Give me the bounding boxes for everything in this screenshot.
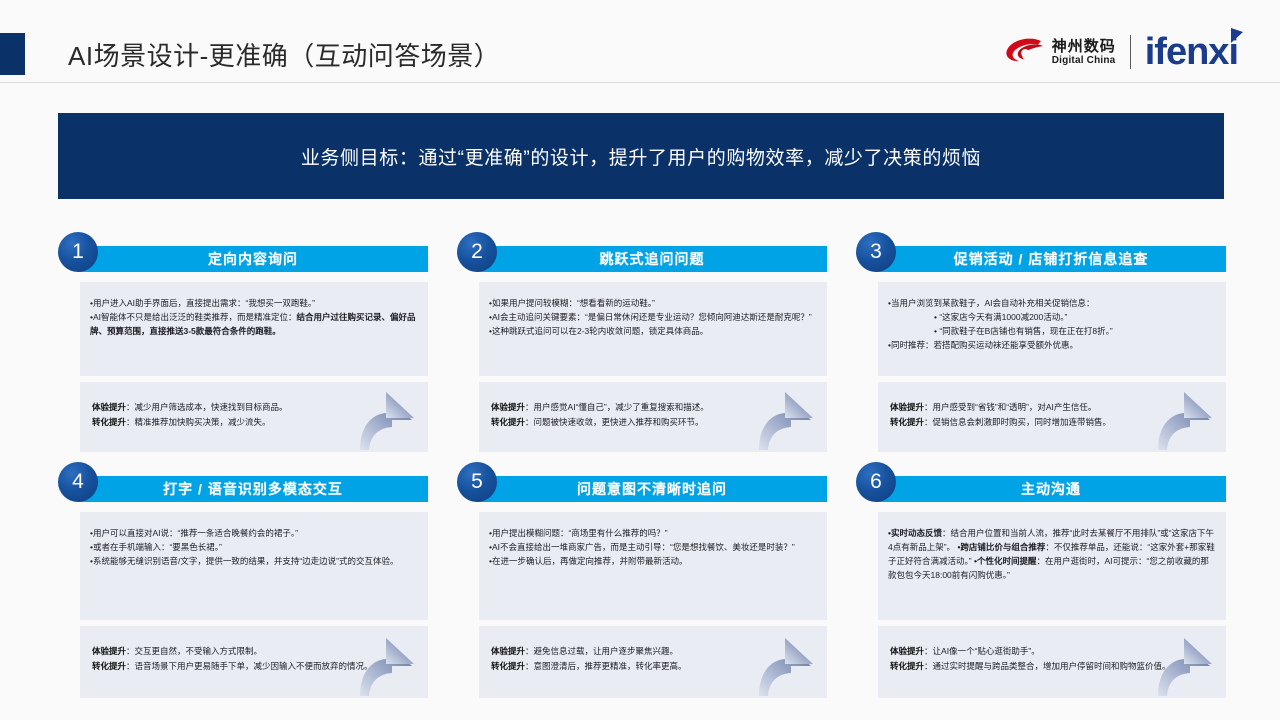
card-body-panel: •如果用户提问较模糊：“想看看新的运动鞋。” •AI会主动追问关键要素：“是偏日… [479, 282, 827, 376]
card-gain-panel: 体验提升：交互更自然，不受输入方式限制。 转化提升：语音场景下用户更易随手下单，… [80, 626, 428, 698]
card-number-badge: 2 [457, 232, 497, 272]
gain-label: 转化提升 [890, 417, 924, 427]
card-gain-panel: 体验提升：用户感觉AI“懂自己”，减少了重复搜索和描述。 转化提升：问题被快速收… [479, 382, 827, 452]
gain-row: 转化提升：促销信息会刺激即时购买，同时增加连带销售。 [890, 415, 1216, 430]
body-line: •当用户浏览到某款鞋子，AI会自动补充相关促销信息： [888, 296, 1216, 310]
card-body-text: •如果用户提问较模糊：“想看看新的运动鞋。” •AI会主动追问关键要素：“是偏日… [479, 282, 827, 338]
body-line: •同时推荐：若搭配购买运动袜还能享受额外优惠。 [888, 338, 1216, 352]
gain-label: 体验提升 [92, 402, 126, 412]
gain-row: 转化提升：意图澄清后，推荐更精准，转化率更高。 [491, 659, 817, 674]
card-body-panel: •实时动态反馈：结合用户位置和当前人流，推荐“此时去某餐厅不用排队”或“这家店下… [878, 512, 1226, 620]
gain-label: 转化提升 [491, 661, 525, 671]
card-body-panel: •当用户浏览到某款鞋子，AI会自动补充相关促销信息： • “这家店今天有满100… [878, 282, 1226, 376]
card-gain-text: 体验提升：用户感受到“省钱”和“透明”，对AI产生信任。 转化提升：促销信息会刺… [878, 382, 1226, 430]
body-line: •或者在手机端输入：“要黑色长裙。” [90, 540, 418, 554]
card-title-bar: 问题意图不清晰时追问 [477, 476, 827, 502]
body-line: •在进一步确认后，再做定向推荐，并附带最新活动。 [489, 554, 817, 568]
card-number-badge: 1 [58, 232, 98, 272]
body-line-bold: •个性化时间提醒 [974, 556, 1036, 566]
body-line: •用户提出模糊问题：“商场里有什么推荐的吗？” [489, 526, 817, 540]
gain-value: 用户感觉AI“懂自己”，减少了重复搜索和描述。 [534, 402, 709, 412]
scenario-card-grid: 1 定向内容询问 •用户进入AI助手界面后，直接提出需求：“我想买一双跑鞋。” … [0, 0, 1280, 720]
card-title: 促销活动 / 店铺打折信息追查 [954, 249, 1149, 269]
card-title-bar: 定向内容询问 [78, 246, 428, 272]
card-title-bar: 跳跃式追问问题 [477, 246, 827, 272]
card-gain-text: 体验提升：用户感觉AI“懂自己”，减少了重复搜索和描述。 转化提升：问题被快速收… [479, 382, 827, 430]
gain-row: 转化提升：精准推荐加快购买决策，减少流失。 [92, 415, 418, 430]
gain-label: 转化提升 [890, 661, 924, 671]
gain-row: 转化提升：问题被快速收敛，更快进入推荐和购买环节。 [491, 415, 817, 430]
gain-row: 体验提升：交互更自然，不受输入方式限制。 [92, 644, 418, 659]
gain-value: 减少用户筛选成本，快速找到目标商品。 [135, 402, 288, 412]
gain-row: 转化提升：语音场景下用户更易随手下单，减少因输入不便而放弃的情况。 [92, 659, 418, 674]
gain-label: 体验提升 [491, 402, 525, 412]
card-number-badge: 4 [58, 462, 98, 502]
card-number-badge: 6 [856, 462, 896, 502]
card-title: 主动沟通 [1021, 479, 1081, 499]
body-line-bold: •实时动态反馈 [888, 528, 942, 538]
card-body-text: •用户提出模糊问题：“商场里有什么推荐的吗？” •AI不会直接给出一堆商家广告，… [479, 512, 827, 568]
card-body-text: •用户进入AI助手界面后，直接提出需求：“我想买一双跑鞋。” •AI智能体不只是… [80, 282, 428, 338]
gain-label: 体验提升 [92, 646, 126, 656]
card-gain-text: 体验提升：交互更自然，不受输入方式限制。 转化提升：语音场景下用户更易随手下单，… [80, 626, 428, 674]
body-line: •用户可以直接对AI说：“推荐一条适合晚餐约会的裙子。” [90, 526, 418, 540]
gain-row: 体验提升：减少用户筛选成本，快速找到目标商品。 [92, 400, 418, 415]
slide-root: AI场景设计-更准确（互动问答场景） 神州数码 Digital China if… [0, 0, 1280, 720]
card-body-panel: •用户可以直接对AI说：“推荐一条适合晚餐约会的裙子。” •或者在手机端输入：“… [80, 512, 428, 620]
card-title: 定向内容询问 [208, 249, 298, 269]
body-line: • “这家店今天有满1000减200活动。” [888, 310, 1216, 324]
card-gain-panel: 体验提升：让AI像一个“贴心逛街助手”。 转化提升：通过实时提醒与跨品类整合，增… [878, 626, 1226, 698]
card-title: 打字 / 语音识别多模态交互 [163, 479, 343, 499]
body-line: •AI智能体不只是给出泛泛的鞋类推荐，而是精准定位： [90, 312, 297, 322]
gain-row: 体验提升：用户感觉AI“懂自己”，减少了重复搜索和描述。 [491, 400, 817, 415]
gain-value: 避免信息过载，让用户逐步聚焦兴趣。 [534, 646, 679, 656]
card-title-bar: 打字 / 语音识别多模态交互 [78, 476, 428, 502]
card-gain-text: 体验提升：减少用户筛选成本，快速找到目标商品。 转化提升：精准推荐加快购买决策，… [80, 382, 428, 430]
card-body-text: •用户可以直接对AI说：“推荐一条适合晚餐约会的裙子。” •或者在手机端输入：“… [80, 512, 428, 568]
gain-value: 意图澄清后，推荐更精准，转化率更高。 [534, 661, 687, 671]
card-title: 跳跃式追问问题 [600, 249, 705, 269]
gain-row: 体验提升：让AI像一个“贴心逛街助手”。 [890, 644, 1216, 659]
body-line: • “同款鞋子在B店铺也有销售，现在正在打8折。” [888, 324, 1216, 338]
body-line: •系统能够无缝识别语音/文字，提供一致的结果，并支持“边走边说”式的交互体验。 [90, 554, 418, 568]
body-line: •如果用户提问较模糊：“想看看新的运动鞋。” [489, 296, 817, 310]
body-line: •用户进入AI助手界面后，直接提出需求：“我想买一双跑鞋。” [90, 296, 418, 310]
card-body-text: •当用户浏览到某款鞋子，AI会自动补充相关促销信息： • “这家店今天有满100… [878, 282, 1226, 352]
gain-row: 转化提升：通过实时提醒与跨品类整合，增加用户停留时间和购物篮价值。 [890, 659, 1216, 674]
card-body-panel: •用户进入AI助手界面后，直接提出需求：“我想买一双跑鞋。” •AI智能体不只是… [80, 282, 428, 376]
gain-value: 交互更自然，不受输入方式限制。 [135, 646, 263, 656]
gain-value: 促销信息会刺激即时购买，同时增加连带销售。 [933, 417, 1112, 427]
gain-label: 体验提升 [890, 402, 924, 412]
gain-value: 语音场景下用户更易随手下单，减少因输入不便而放弃的情况。 [135, 661, 373, 671]
card-number-badge: 5 [457, 462, 497, 502]
card-gain-panel: 体验提升：避免信息过载，让用户逐步聚焦兴趣。 转化提升：意图澄清后，推荐更精准，… [479, 626, 827, 698]
gain-row: 体验提升：用户感受到“省钱”和“透明”，对AI产生信任。 [890, 400, 1216, 415]
gain-value: 问题被快速收敛，更快进入推荐和购买环节。 [534, 417, 704, 427]
card-gain-panel: 体验提升：减少用户筛选成本，快速找到目标商品。 转化提升：精准推荐加快购买决策，… [80, 382, 428, 452]
body-line: •AI不会直接给出一堆商家广告，而是主动引导：“您是想找餐饮、美妆还是时装？” [489, 540, 817, 554]
body-line-bold: •跨店铺比价与组合推荐 [957, 542, 1045, 552]
body-line: •AI会主动追问关键要素：“是偏日常休闲还是专业运动？您倾向阿迪达斯还是耐克呢？… [489, 310, 817, 324]
gain-value: 精准推荐加快购买决策，减少流失。 [135, 417, 271, 427]
card-gain-text: 体验提升：让AI像一个“贴心逛街助手”。 转化提升：通过实时提醒与跨品类整合，增… [878, 626, 1226, 674]
card-gain-panel: 体验提升：用户感受到“省钱”和“透明”，对AI产生信任。 转化提升：促销信息会刺… [878, 382, 1226, 452]
card-gain-text: 体验提升：避免信息过载，让用户逐步聚焦兴趣。 转化提升：意图澄清后，推荐更精准，… [479, 626, 827, 674]
gain-row: 体验提升：避免信息过载，让用户逐步聚焦兴趣。 [491, 644, 817, 659]
card-title-bar: 主动沟通 [876, 476, 1226, 502]
gain-value: 用户感受到“省钱”和“透明”，对AI产生信任。 [933, 402, 1097, 412]
card-title-bar: 促销活动 / 店铺打折信息追查 [876, 246, 1226, 272]
gain-label: 转化提升 [92, 661, 126, 671]
gain-label: 转化提升 [92, 417, 126, 427]
card-number-badge: 3 [856, 232, 896, 272]
gain-label: 体验提升 [491, 646, 525, 656]
gain-label: 转化提升 [491, 417, 525, 427]
body-line: •这种跳跃式追问可以在2-3轮内收敛问题，锁定具体商品。 [489, 324, 817, 338]
gain-label: 体验提升 [890, 646, 924, 656]
gain-value: 让AI像一个“贴心逛街助手”。 [933, 646, 1040, 656]
card-title: 问题意图不清晰时追问 [577, 479, 727, 499]
gain-value: 通过实时提醒与跨品类整合，增加用户停留时间和购物篮价值。 [933, 661, 1171, 671]
card-body-panel: •用户提出模糊问题：“商场里有什么推荐的吗？” •AI不会直接给出一堆商家广告，… [479, 512, 827, 620]
card-body-text: •实时动态反馈：结合用户位置和当前人流，推荐“此时去某餐厅不用排队”或“这家店下… [878, 512, 1226, 582]
